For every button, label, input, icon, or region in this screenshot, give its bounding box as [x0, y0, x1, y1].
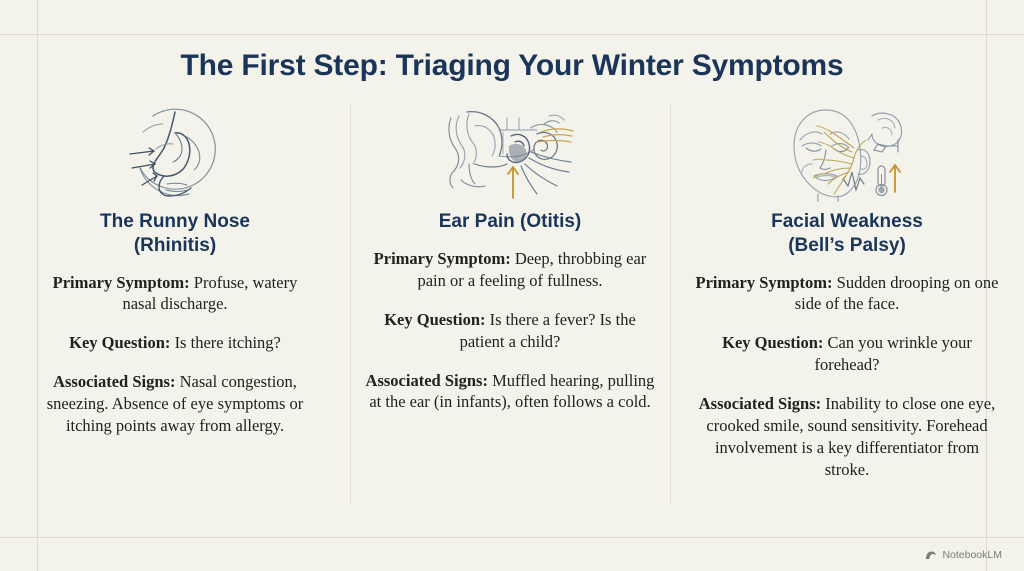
label-primary-symptom: Primary Symptom: [696, 273, 833, 292]
key-question-rhinitis: Key Question: Is there itching? [69, 332, 281, 354]
label-key-question: Key Question: [722, 333, 823, 352]
key-question-bells-palsy: Key Question: Can you wrinkle your foreh… [692, 332, 1002, 376]
label-associated-signs: Associated Signs: [366, 371, 488, 390]
notebooklm-label: NotebookLM [942, 549, 1002, 561]
label-primary-symptom: Primary Symptom: [374, 249, 511, 268]
associated-signs-rhinitis: Associated Signs: Nasal congestion, snee… [36, 371, 314, 437]
columns-container: The Runny Nose (Rhinitis) Primary Sympto… [0, 104, 1024, 481]
column-bells-palsy: Facial Weakness (Bell’s Palsy) Primary S… [670, 104, 1024, 481]
label-associated-signs: Associated Signs: [53, 372, 175, 391]
associated-signs-bells-palsy: Associated Signs: Inability to close one… [692, 393, 1002, 481]
label-associated-signs: Associated Signs: [699, 394, 821, 413]
margin-rule-top [0, 34, 1024, 35]
primary-symptom-otitis: Primary Symptom: Deep, throbbing ear pai… [362, 248, 658, 292]
slide-canvas: The First Step: Triaging Your Winter Sym… [0, 0, 1024, 571]
margin-rule-bottom [0, 537, 1024, 538]
notebooklm-logo-icon [925, 550, 937, 561]
text-key-question: Is there a fever? Is the patient a child… [460, 310, 636, 351]
card-title-rhinitis: The Runny Nose (Rhinitis) [100, 210, 250, 258]
card-title-line1: Facial Weakness [771, 210, 923, 234]
card-title-line1: Ear Pain (Otitis) [439, 210, 582, 234]
text-key-question: Is there itching? [170, 333, 280, 352]
column-otitis: Ear Pain (Otitis) Primary Symptom: Deep,… [350, 104, 670, 481]
associated-signs-otitis: Associated Signs: Muffled hearing, pulli… [362, 370, 658, 414]
label-key-question: Key Question: [69, 333, 170, 352]
facial-nerve-illustration [692, 104, 1002, 204]
primary-symptom-rhinitis: Primary Symptom: Profuse, watery nasal d… [36, 272, 314, 316]
card-title-line2: (Rhinitis) [100, 234, 250, 258]
card-title-otitis: Ear Pain (Otitis) [439, 210, 582, 234]
nose-profile-illustration [36, 104, 314, 204]
key-question-otitis: Key Question: Is there a fever? Is the p… [362, 309, 658, 353]
ear-anatomy-illustration [362, 104, 658, 204]
card-title-line1: The Runny Nose [100, 210, 250, 234]
text-key-question: Can you wrinkle your forehead? [814, 333, 971, 374]
notebooklm-watermark: NotebookLM [925, 549, 1002, 561]
card-title-line2: (Bell’s Palsy) [771, 234, 923, 258]
page-title: The First Step: Triaging Your Winter Sym… [0, 49, 1024, 83]
label-primary-symptom: Primary Symptom: [53, 273, 190, 292]
card-title-bells-palsy: Facial Weakness (Bell’s Palsy) [771, 210, 923, 258]
column-rhinitis: The Runny Nose (Rhinitis) Primary Sympto… [0, 104, 350, 481]
primary-symptom-bells-palsy: Primary Symptom: Sudden drooping on one … [692, 272, 1002, 316]
label-key-question: Key Question: [384, 310, 485, 329]
